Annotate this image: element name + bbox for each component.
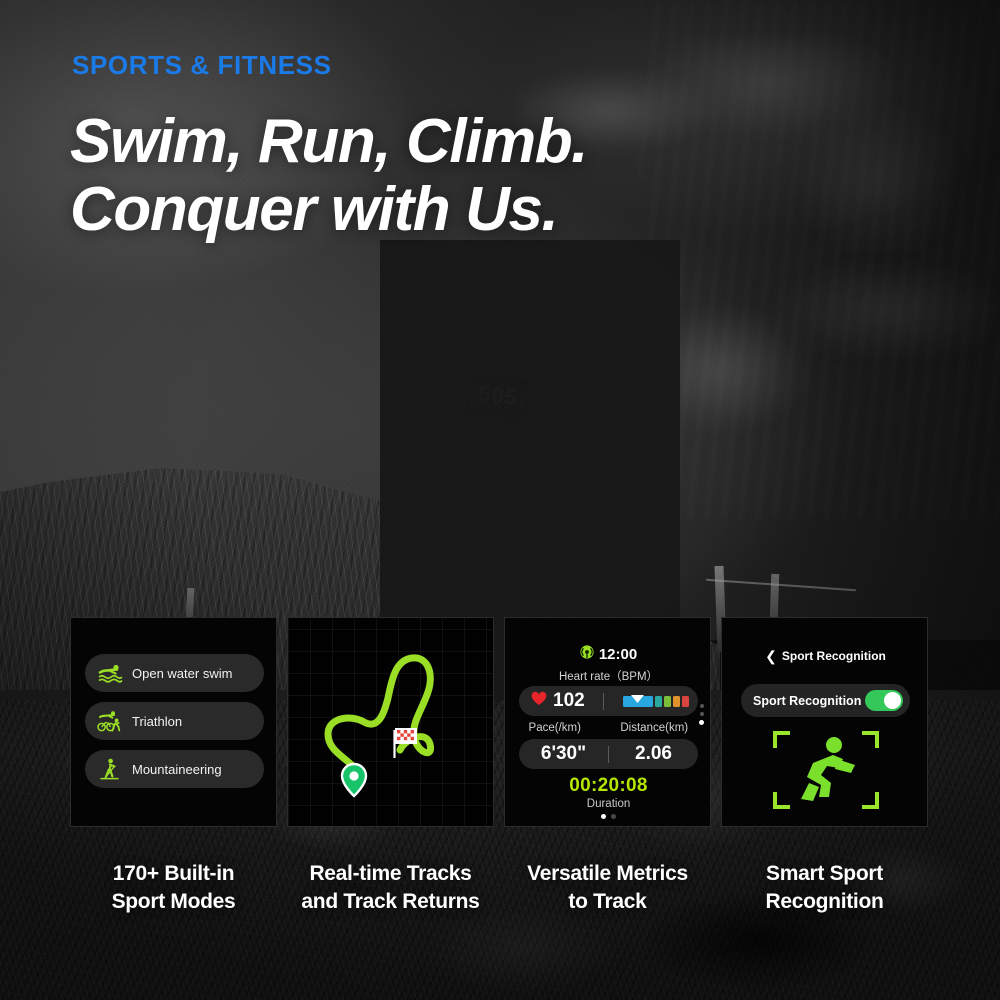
eyebrow-label: SPORTS & FITNESS [72,52,332,78]
page-title: Swim, Run, Climb. Conquer with Us. [70,108,810,244]
headline-line-1: Swim, Run, Climb. [70,107,587,176]
list-item[interactable]: Triathlon [85,702,264,740]
open-water-swim-icon [97,662,123,684]
sport-recognition-toggle[interactable] [865,690,903,711]
list-item-label: Triathlon [132,714,182,729]
pace-label: Pace(/km) [505,722,605,734]
page-indicator [505,814,711,819]
list-item[interactable]: Open water swim [85,654,264,692]
sky-streaks [640,0,1000,520]
trail-runner-figure: 505 [380,240,680,630]
setting-label: Sport Recognition [753,694,861,708]
caption-line-1: Smart Sport [721,860,928,888]
location-pin-icon [342,764,366,796]
running-person-icon [773,731,879,809]
distance-label: Distance(km) [605,722,712,734]
caption-line-2: Sport Modes [70,888,277,916]
card-versatile-metrics[interactable]: 12:00 Heart rate（BPM） 102 [504,617,711,827]
screen-header: ❮ Sport Recognition [722,649,928,663]
sport-recognition-setting-row[interactable]: Sport Recognition [741,684,910,717]
heart-rate-pill[interactable]: 102 [519,686,698,716]
sport-mode-list: Open water swim Tria [85,654,264,788]
heart-rate-zone-bar [623,696,689,707]
heart-rate-value: 102 [553,690,585,712]
card-smart-sport-recognition[interactable]: ❮ Sport Recognition Sport Recognition [721,617,928,827]
heart-icon [531,691,547,711]
caption-line-2: Recognition [721,888,928,916]
screen-title: Sport Recognition [782,649,886,663]
caption-line-2: to Track [504,888,711,916]
caption-line-1: 170+ Built-in [70,860,277,888]
card-sport-modes[interactable]: Open water swim Tria [70,617,277,827]
caption-smart-sport-recognition: Smart Sport Recognition [721,860,928,940]
checkered-flag-icon [393,728,417,758]
heart-rate-caption: Heart rate（BPM） [505,668,711,684]
list-item-label: Mountaineering [132,762,222,777]
feature-card-row: Open water swim Tria [70,617,928,827]
pill-divider [603,693,604,710]
metric-labels-row: Pace(/km) Distance(km) [505,722,711,734]
caption-versatile-metrics: Versatile Metrics to Track [504,860,711,940]
caption-sport-modes: 170+ Built-in Sport Modes [70,860,277,940]
duration-value: 00:20:08 [505,775,711,797]
status-row: 12:00 [505,645,711,664]
caption-line-2: and Track Returns [287,888,494,916]
pace-value: 6'30" [519,743,608,765]
chevron-left-icon[interactable]: ❮ [765,649,777,663]
list-item-label: Open water swim [132,666,232,681]
distance-value: 2.06 [609,743,698,765]
duration-label: Duration [505,798,711,810]
gps-track-path [288,618,494,827]
caption-real-time-tracks: Real-time Tracks and Track Returns [287,860,494,940]
mountaineering-icon [97,758,123,780]
caption-row: 170+ Built-in Sport Modes Real-time Trac… [70,860,928,940]
pace-distance-pill[interactable]: 6'30" 2.06 [519,739,698,769]
caption-line-1: Versatile Metrics [504,860,711,888]
clock-time: 12:00 [599,646,637,663]
gps-signal-icon [580,645,594,664]
headline-line-2: Conquer with Us. [70,176,810,244]
recognition-frame [773,731,879,809]
list-item[interactable]: Mountaineering [85,750,264,788]
caption-line-1: Real-time Tracks [287,860,494,888]
card-real-time-track[interactable] [287,617,494,827]
triathlon-icon [97,710,123,732]
